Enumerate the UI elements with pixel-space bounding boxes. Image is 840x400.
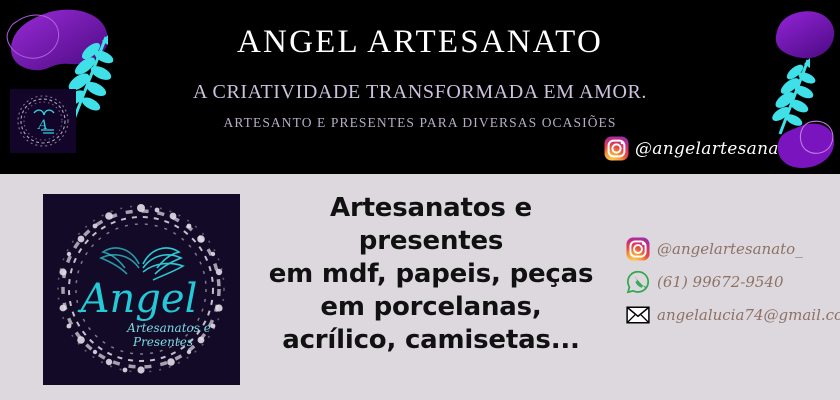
contact-email[interactable]: angelalucia74@gmail.com <box>626 300 840 330</box>
purple-blob-bottom-right <box>772 112 840 174</box>
brand-tagline: A CRIATIVIDADE TRANSFORMADA EM AMOR. <box>0 81 840 104</box>
contact-instagram[interactable]: @angelartesanato_ <box>626 234 840 264</box>
angel-wreath-logo-icon: Angel Artesanatos e Presentes <box>43 194 240 385</box>
purple-blob-top-right <box>772 10 840 72</box>
contact-list: @angelartesanato_ (61) 99672-9540 angela… <box>626 234 840 330</box>
svg-text:Presentes: Presentes <box>132 335 193 349</box>
banner-header: A ANGEL ARTESANATO A CRIATIVIDADE TRANSF… <box>0 0 840 174</box>
email-envelope-icon <box>626 303 650 327</box>
whatsapp-icon <box>626 270 650 294</box>
page-title: ANGEL ARTESANATO <box>0 24 840 61</box>
svg-text:Artesanatos e: Artesanatos e <box>126 321 211 335</box>
instagram-icon <box>604 136 629 161</box>
banner-body: Angel Artesanatos e Presentes Artesanato… <box>0 174 840 400</box>
headline-text: Artesanatos e presentes em mdf, papeis, … <box>255 192 607 357</box>
brand-subtagline: ARTESANTO E PRESENTES PARA DIVERSAS OCAS… <box>0 115 840 131</box>
instagram-icon <box>626 237 650 261</box>
svg-text:Angel: Angel <box>77 276 198 322</box>
contact-email-label: angelalucia74@gmail.com <box>657 306 840 324</box>
promotional-banner: A ANGEL ARTESANATO A CRIATIVIDADE TRANSF… <box>0 0 840 400</box>
contact-whatsapp[interactable]: (61) 99672-9540 <box>626 267 840 297</box>
contact-whatsapp-label: (61) 99672-9540 <box>657 273 784 291</box>
contact-instagram-label: @angelartesanato_ <box>657 240 803 258</box>
